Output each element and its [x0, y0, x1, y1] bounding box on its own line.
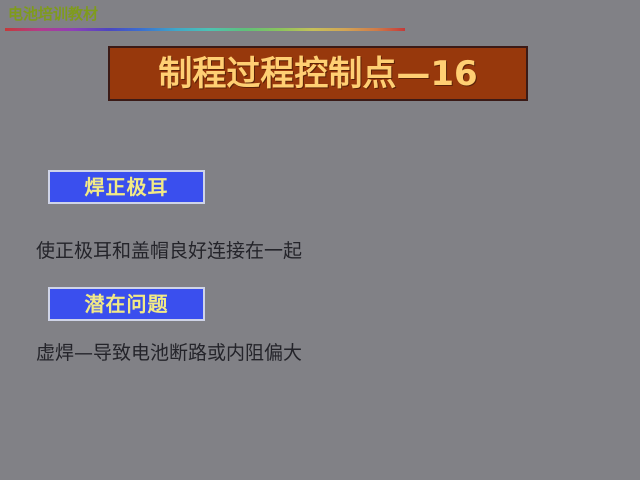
- rainbow-divider-rule: [5, 28, 405, 31]
- slide-header-label: 电池培训教材: [8, 5, 98, 24]
- slide-title-banner: 制程过程控制点—16: [108, 46, 528, 101]
- section-label-text-2: 潜在问题: [85, 292, 169, 316]
- section-label-box-1: 焊正极耳: [48, 170, 205, 204]
- section-label-text-1: 焊正极耳: [85, 175, 169, 199]
- section-body-text-1: 使正极耳和盖帽良好连接在一起: [36, 238, 302, 264]
- section-label-box-2: 潜在问题: [48, 287, 205, 321]
- slide-title-text: 制程过程控制点—16: [158, 55, 477, 93]
- section-body-text-2: 虚焊—导致电池断路或内阻偏大: [36, 340, 302, 366]
- presentation-slide: 电池培训教材 制程过程控制点—16 焊正极耳 使正极耳和盖帽良好连接在一起 潜在…: [0, 0, 640, 480]
